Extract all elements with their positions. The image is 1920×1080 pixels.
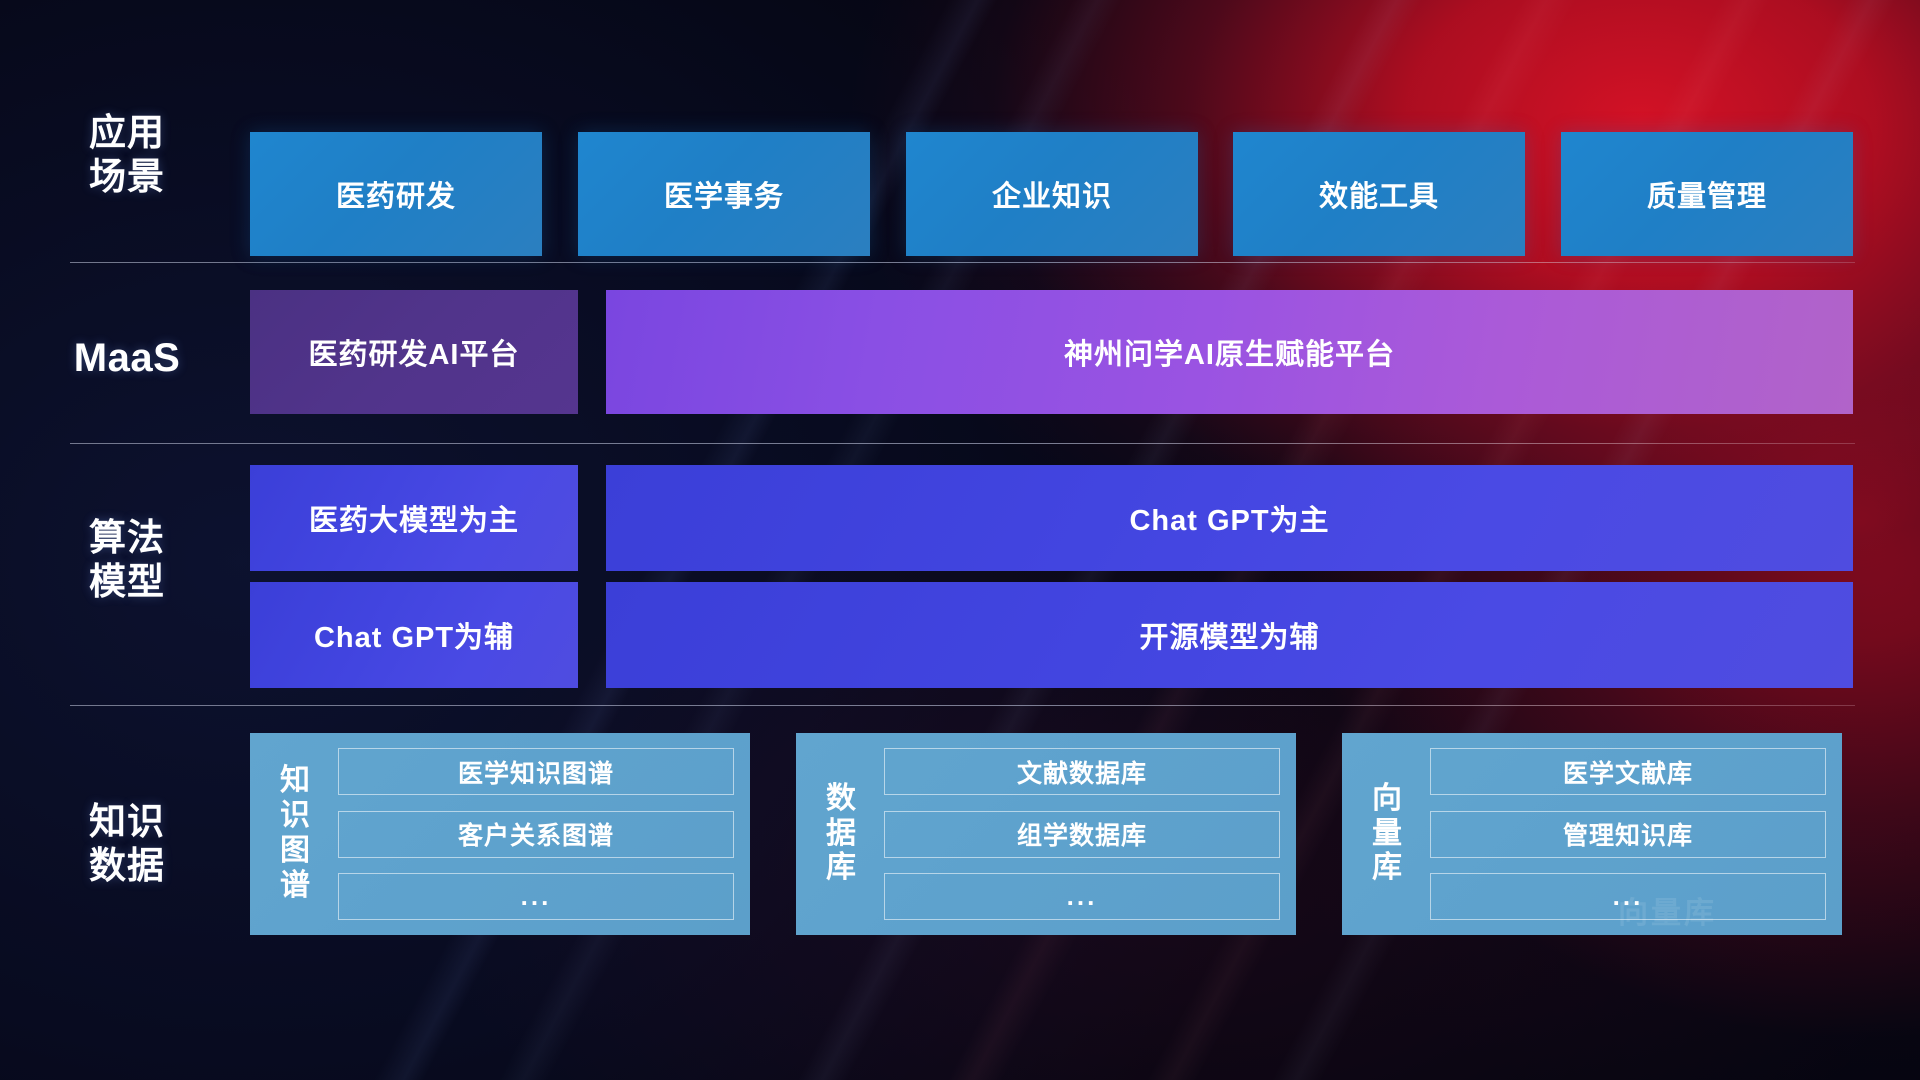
row-label-maas: MaaS [62,335,192,382]
knowledge-panel-title: 向量库 [1358,782,1416,886]
algo-box-chatgpt-secondary[interactable]: Chat GPT为辅 [250,582,578,688]
knowledge-panel-items: 医学文献库 管理知识库 ... [1416,745,1828,923]
knowledge-item-management-knowledge-store[interactable]: 管理知识库 [1430,811,1826,858]
algo-box-opensource-secondary[interactable]: 开源模型为辅 [606,582,1853,688]
knowledge-panel-vector-store[interactable]: 向量库 医学文献库 管理知识库 ... [1342,733,1842,935]
row-label-line-1: 算法 [62,516,192,560]
row-label-algorithm-models: 算法 模型 [62,516,192,603]
knowledge-panel-items: 医学知识图谱 客户关系图谱 ... [324,745,736,923]
knowledge-item-medical-literature-store[interactable]: 医学文献库 [1430,748,1826,795]
divider-app-maas [70,262,1855,263]
row-label-line-2: 模型 [62,560,192,604]
knowledge-panel-database[interactable]: 数据库 文献数据库 组学数据库 ... [796,733,1296,935]
maas-box-shenzhou-wenxue-platform[interactable]: 神州问学AI原生赋能平台 [606,290,1853,414]
knowledge-item-more[interactable]: ... [884,873,1280,920]
divider-algo-knowledge [70,705,1855,706]
row-label-line-2: 数据 [62,844,192,888]
knowledge-item-more[interactable]: ... [338,873,734,920]
knowledge-item-literature-database[interactable]: 文献数据库 [884,748,1280,795]
knowledge-panel-knowledge-graph[interactable]: 知识图谱 医学知识图谱 客户关系图谱 ... [250,733,750,935]
app-box-quality-management[interactable]: 质量管理 [1561,132,1853,256]
knowledge-panel-title: 知识图谱 [266,764,324,903]
knowledge-item-more[interactable]: ... [1430,873,1826,920]
row-label-line-1: 应用 [62,111,192,155]
app-box-enterprise-knowledge[interactable]: 企业知识 [906,132,1198,256]
maas-box-pharma-ai-platform[interactable]: 医药研发AI平台 [250,290,578,414]
app-box-efficiency-tools[interactable]: 效能工具 [1233,132,1525,256]
app-box-medical-affairs[interactable]: 医学事务 [578,132,870,256]
divider-maas-algo [70,443,1855,444]
algo-box-pharma-large-model-primary[interactable]: 医药大模型为主 [250,465,578,571]
knowledge-item-customer-relation-graph[interactable]: 客户关系图谱 [338,811,734,858]
diagram-canvas: 应用 场景 医药研发 医学事务 企业知识 效能工具 质量管理 MaaS 医药研发… [0,0,1920,1080]
knowledge-item-omics-database[interactable]: 组学数据库 [884,811,1280,858]
knowledge-panel-title: 数据库 [812,782,870,886]
knowledge-panel-items: 文献数据库 组学数据库 ... [870,745,1282,923]
app-box-pharma-rnd[interactable]: 医药研发 [250,132,542,256]
algo-box-chatgpt-primary[interactable]: Chat GPT为主 [606,465,1853,571]
row-label-line-1: 知识 [62,800,192,844]
row-label-line-2: 场景 [62,155,192,199]
knowledge-item-medical-knowledge-graph[interactable]: 医学知识图谱 [338,748,734,795]
row-label-line-1: MaaS [62,335,192,382]
row-label-application-scenarios: 应用 场景 [62,111,192,198]
row-label-knowledge-data: 知识 数据 [62,800,192,887]
